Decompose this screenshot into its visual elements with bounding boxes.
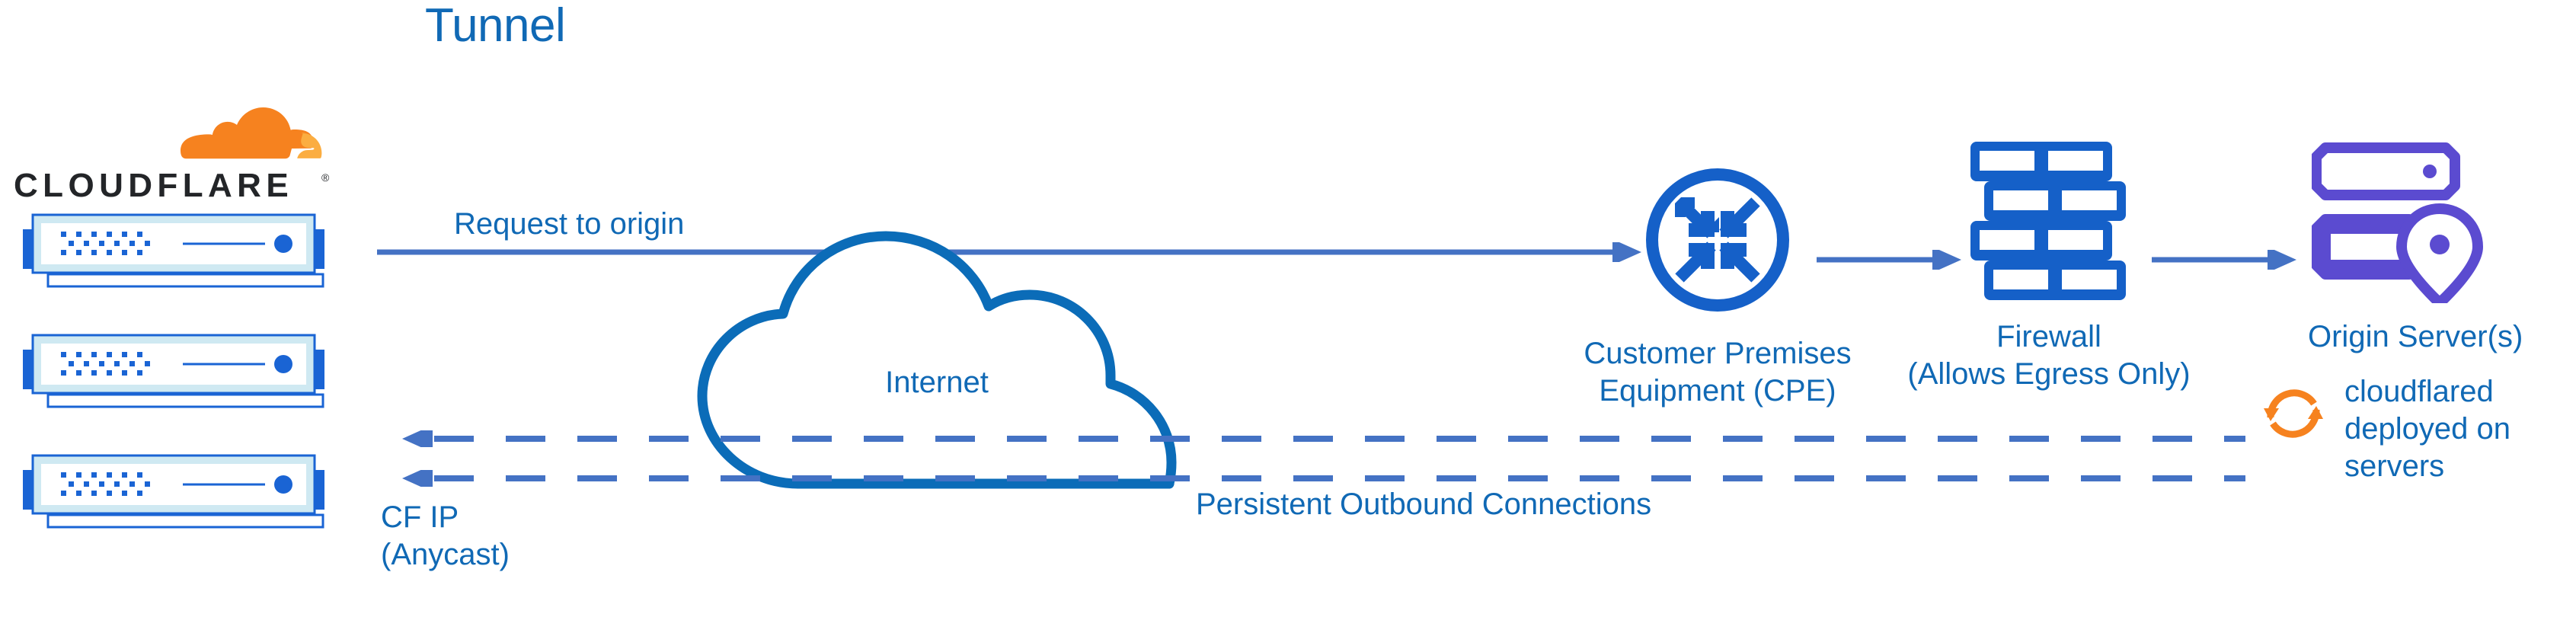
cpe-label: Customer Premises Equipment (CPE) (1520, 335, 1916, 410)
origin-server-label-line1: Origin Server(s) (2308, 318, 2576, 356)
page-title: Tunnel (425, 0, 882, 52)
cf-ip-label-line1: CF IP (381, 499, 701, 536)
cloudflare-cloud-icon (170, 107, 330, 166)
cloudflared-note-line1: cloudflared (2344, 373, 2573, 411)
persistent-connection-line-2 (402, 470, 2245, 487)
firewall-label-line1: Firewall (1870, 318, 2228, 356)
persistent-connections-label: Persistent Outbound Connections (1196, 488, 1651, 522)
request-flow-label: Request to origin (454, 207, 684, 241)
svg-text:®: ® (321, 171, 330, 184)
firewall-to-origin-arrow (2152, 250, 2296, 270)
cf-ip-label-line2: (Anycast) (381, 536, 701, 574)
svg-text:CLOUDFLARE: CLOUDFLARE (14, 167, 293, 204)
circular-sync-arrows-icon (2261, 381, 2326, 446)
cpe-label-line1: Customer Premises (1520, 335, 1916, 372)
cpe-to-firewall-arrow (1817, 250, 1961, 270)
firewall-label: Firewall (Allows Egress Only) (1870, 318, 2228, 393)
edge-server-1 (6, 210, 341, 293)
internet-label: Internet (686, 366, 1188, 400)
cloudflare-logo: CLOUDFLARE ® (14, 107, 334, 206)
origin-server-label: Origin Server(s) (2308, 318, 2576, 356)
cpe-label-line2: Equipment (CPE) (1520, 372, 1916, 410)
server-rack-location-pin-icon (2312, 136, 2487, 303)
internet-cloud-icon (686, 221, 1188, 495)
edge-server-3 (6, 451, 341, 533)
cloudflared-note-line3: servers (2344, 448, 2573, 485)
cloudflare-wordmark: CLOUDFLARE ® (14, 166, 334, 206)
cloudflared-note: cloudflared deployed on servers (2344, 373, 2573, 484)
diagram-canvas: Tunnel CLOUDFLARE ® (0, 0, 2576, 617)
persistent-connection-line-1 (402, 430, 2245, 447)
cf-ip-anycast-label: CF IP (Anycast) (381, 499, 701, 574)
edge-server-2 (6, 331, 341, 413)
brick-wall-icon (1969, 137, 2129, 301)
router-expand-arrows-circle-icon (1641, 164, 1794, 316)
firewall-label-line2: (Allows Egress Only) (1870, 356, 2228, 393)
cloudflared-note-line2: deployed on (2344, 411, 2573, 448)
